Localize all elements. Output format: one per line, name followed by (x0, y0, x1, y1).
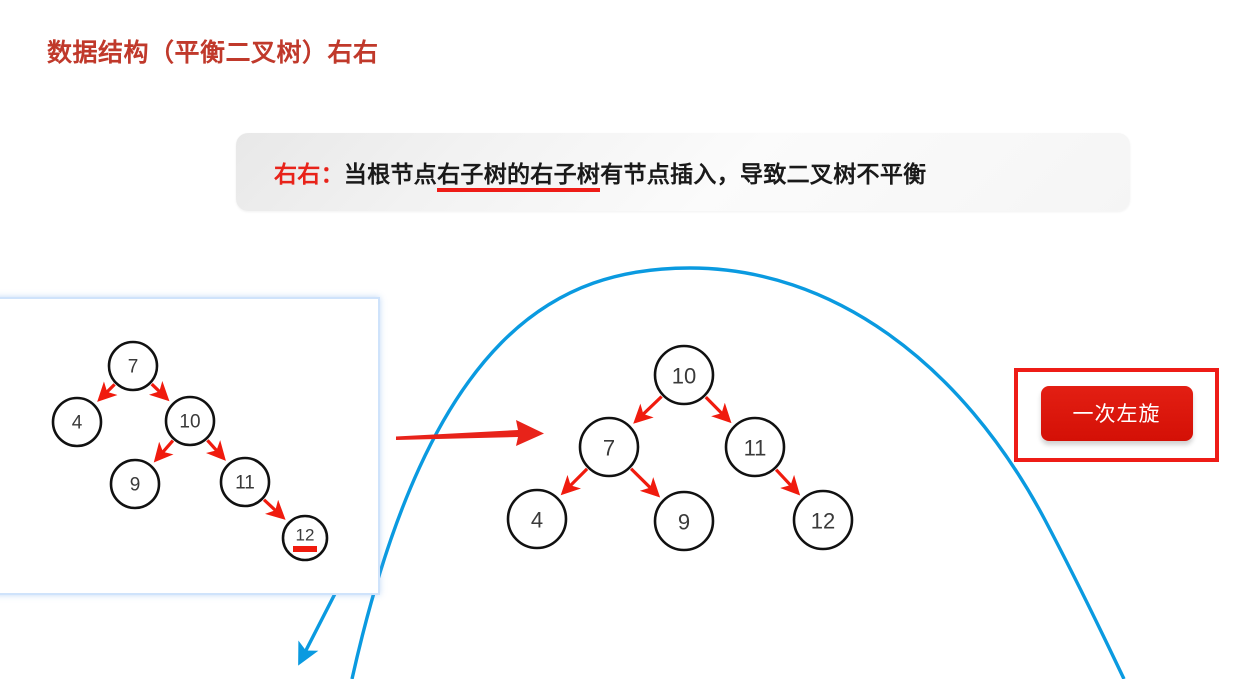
definition-banner: 右右：当根节点右子树的右子树有节点插入，导致二叉树不平衡 (236, 133, 1130, 211)
definition-text-before: 当根节点 (344, 161, 437, 187)
before-tree-panel (0, 297, 380, 595)
transition-arrow-shape (396, 420, 544, 446)
page-title: 数据结构（平衡二叉树）右右 (47, 33, 379, 69)
tree-edge (776, 470, 797, 493)
tree-node-circle (655, 492, 713, 550)
tree-node-circle (726, 418, 784, 476)
tree-node-circle (794, 491, 852, 549)
tree-node: 12 (794, 491, 852, 549)
tree-node-circle (508, 490, 566, 548)
definition-text-after: 有节点插入，导致二叉树不平衡 (600, 161, 926, 187)
rotate-action-highlight-box: 一次左旋 (1014, 368, 1219, 462)
tree-node-label: 7 (603, 436, 615, 461)
tree-node-label: 4 (531, 508, 543, 533)
transition-arrow-icon (392, 410, 552, 470)
tree-edge (636, 396, 661, 420)
tree-node-circle (580, 418, 638, 476)
tree-node: 9 (655, 492, 713, 550)
tree-node-label: 10 (672, 364, 696, 389)
rotate-left-once-button[interactable]: 一次左旋 (1041, 386, 1193, 441)
definition-keyword: 右右： (274, 161, 344, 187)
tree-node-label: 12 (811, 509, 835, 534)
tree-edge (631, 469, 657, 495)
tree-node-circle (655, 346, 713, 404)
definition-text: 右右：当根节点右子树的右子树有节点插入，导致二叉树不平衡 (274, 155, 926, 189)
tree-node: 10 (655, 346, 713, 404)
tree-node: 11 (726, 418, 784, 476)
after-tree-edges (564, 396, 797, 494)
definition-underlined-text: 右子树的右子树 (437, 161, 600, 192)
tree-edge (706, 397, 729, 420)
tree-node-label: 11 (744, 436, 767, 461)
tree-edge (564, 469, 587, 492)
tree-node: 7 (580, 418, 638, 476)
tree-node: 4 (508, 490, 566, 548)
tree-node-label: 9 (678, 510, 690, 535)
after-tree-nodes: 107114912 (508, 346, 852, 550)
blue-arc-path (352, 268, 1124, 679)
